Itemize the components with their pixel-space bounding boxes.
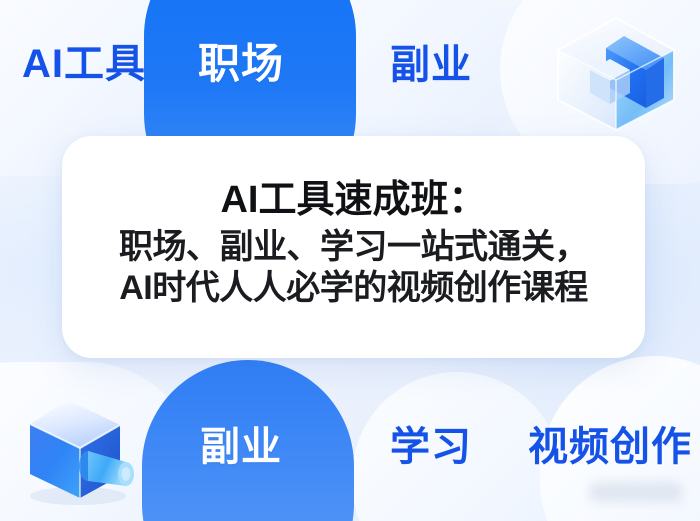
- hexagon-cube-3d-icon: [548, 12, 684, 134]
- card-subtitle-line-2: AI时代人人必学的视频创作课程: [119, 268, 588, 309]
- card-subtitle-line-1: 职场、副业、学习一站式通关，: [119, 227, 588, 268]
- headline-card: AI工具速成班： 职场、副业、学习一站式通关， AI时代人人必学的视频创作课程: [62, 136, 645, 358]
- pill-bottom-left: [0, 362, 200, 521]
- card-title: AI工具速成班：: [220, 180, 486, 220]
- keyword-video-creation: 视频创作: [528, 427, 692, 467]
- keyword-ai-tools: AI工具: [22, 44, 146, 84]
- poster-canvas: AI工具 职场 副业: [0, 0, 700, 521]
- keyword-workplace: 职场: [198, 43, 284, 85]
- keyword-side-job-top: 副业: [390, 45, 472, 85]
- keyword-study: 学习: [390, 427, 472, 467]
- cube-plug-3d-icon: [16, 392, 146, 510]
- keyword-side-job-bottom: 副业: [200, 427, 282, 467]
- blurred-watermark: [590, 482, 682, 502]
